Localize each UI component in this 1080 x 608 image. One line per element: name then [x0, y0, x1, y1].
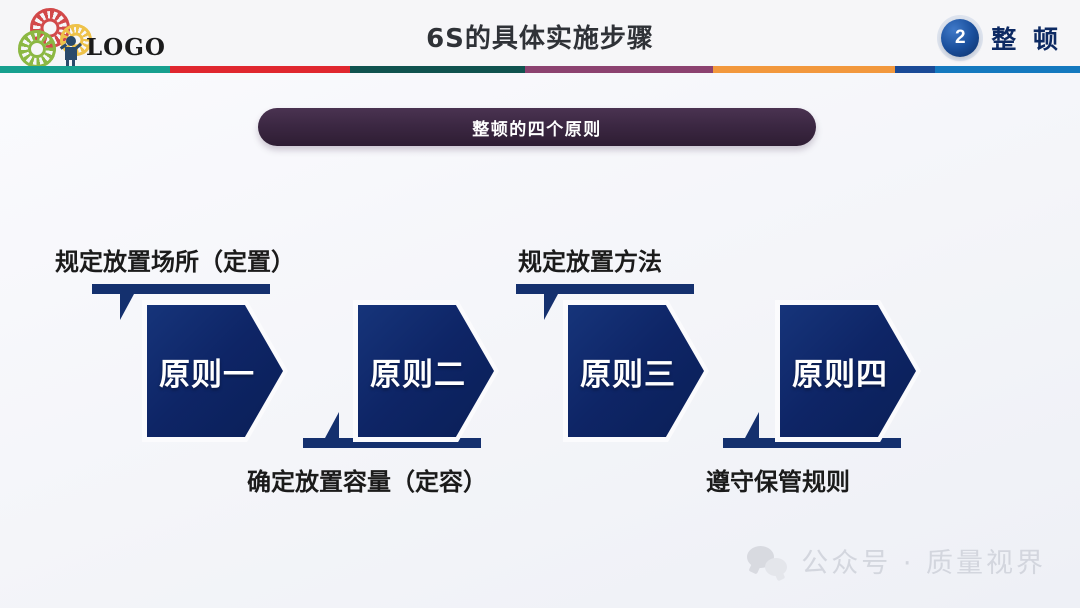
arrow-shape[interactable]: 原则二 — [353, 300, 499, 442]
slide-header: LOGO 6S的具体实施步骤 2 整 顿 — [0, 0, 1080, 72]
node-caption: 规定放置场所（定置） — [55, 242, 295, 277]
arrow-label: 原则四 — [792, 349, 888, 394]
header-color-rule — [0, 66, 1080, 73]
section-banner-text: 整顿的四个原则 — [472, 115, 602, 140]
connector-pointer — [544, 294, 558, 320]
step-badge: 2 整 顿 — [941, 16, 1062, 60]
rule-segment-teal — [0, 66, 170, 73]
arrow-body: 原则一 — [147, 305, 283, 437]
step-name-label: 整 顿 — [991, 20, 1062, 56]
arrow-shape[interactable]: 原则三 — [563, 300, 709, 442]
arrow-label: 原则一 — [159, 349, 255, 394]
wechat-icon — [747, 546, 787, 576]
rule-segment-orange — [713, 66, 895, 73]
rule-segment-purple — [525, 66, 713, 73]
connector-pointer — [745, 412, 759, 438]
page-title: 6S的具体实施步骤 — [0, 18, 1080, 55]
watermark: 公众号 · 质量视界 — [747, 541, 1046, 580]
arrow-label: 原则三 — [580, 349, 676, 394]
slide-canvas: LOGO 6S的具体实施步骤 2 整 顿 整顿的四个原则 原则一规定放置场所（定… — [0, 0, 1080, 608]
watermark-text: 公众号 · 质量视界 — [801, 541, 1046, 580]
arrow-shape[interactable]: 原则一 — [142, 300, 288, 442]
arrow-body: 原则四 — [780, 305, 916, 437]
connector-bar — [92, 284, 270, 294]
rule-segment-dark-teal — [350, 66, 525, 73]
arrow-shape[interactable]: 原则四 — [775, 300, 921, 442]
node-caption: 确定放置容量（定容） — [247, 462, 487, 497]
node-caption: 规定放置方法 — [518, 242, 662, 277]
rule-segment-red — [170, 66, 350, 73]
connector-pointer — [325, 412, 339, 438]
section-banner: 整顿的四个原则 — [258, 108, 816, 146]
rule-segment-navy — [895, 66, 935, 73]
arrow-label: 原则二 — [370, 349, 466, 394]
step-number-badge: 2 — [941, 19, 979, 57]
arrow-body: 原则二 — [358, 305, 494, 437]
rule-segment-blue — [935, 66, 1080, 73]
connector-pointer — [120, 294, 134, 320]
arrow-body: 原则三 — [568, 305, 704, 437]
connector-bar — [516, 284, 694, 294]
node-caption: 遵守保管规则 — [706, 462, 850, 497]
